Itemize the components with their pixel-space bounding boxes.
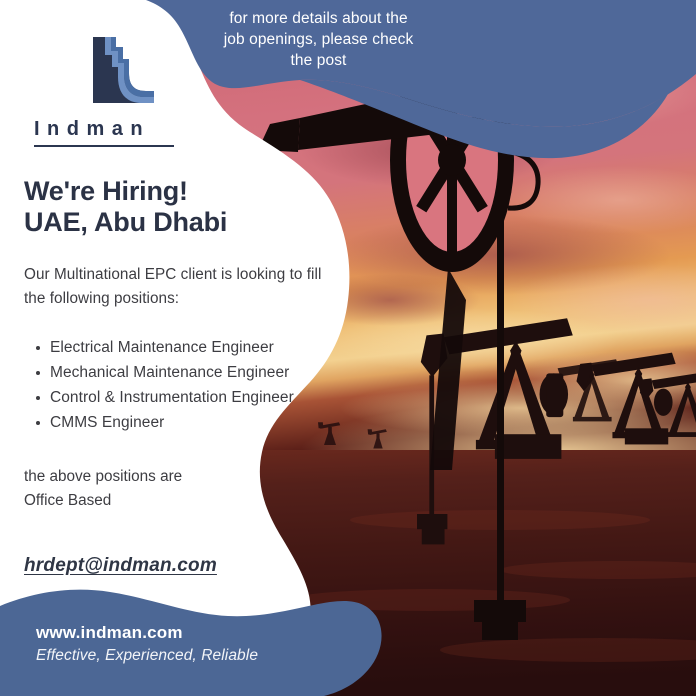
intro-text: Our Multinational EPC client is looking …	[24, 263, 344, 311]
positions-note-line-2: Office Based	[24, 489, 344, 513]
intro-line-1: Our Multinational EPC client is looking …	[24, 266, 302, 283]
list-item: Control & Instrumentation Engineer	[50, 385, 344, 410]
footer-website[interactable]: www.indman.com	[36, 622, 258, 644]
footer: www.indman.com Effective, Experienced, R…	[36, 622, 258, 666]
poster-content: We're Hiring! UAE, Abu Dhabi Our Multina…	[24, 176, 344, 577]
header-caption: for more details about the job openings,…	[196, 8, 441, 71]
brand-logo: Indman	[34, 33, 174, 147]
hiring-poster: for more details about the job openings,…	[0, 0, 696, 696]
list-item: Electrical Maintenance Engineer	[50, 335, 344, 360]
header-caption-line-2: job openings, please check	[196, 29, 441, 50]
page-title: We're Hiring! UAE, Abu Dhabi	[24, 176, 344, 238]
indman-logo-icon	[34, 33, 156, 113]
positions-list: Electrical Maintenance Engineer Mechanic…	[24, 335, 344, 435]
list-item: CMMS Engineer	[50, 410, 344, 435]
positions-note: the above positions are Office Based	[24, 465, 344, 513]
contact-email-link[interactable]: hrdept@indman.com	[24, 555, 217, 577]
footer-tagline: Effective, Experienced, Reliable	[36, 645, 258, 666]
brand-wordmark: Indman	[34, 118, 174, 147]
list-item: Mechanical Maintenance Engineer	[50, 360, 344, 385]
header-caption-line-1: for more details about the	[196, 8, 441, 29]
header-caption-line-3: the post	[196, 50, 441, 71]
headline-line-1: We're Hiring!	[24, 176, 188, 206]
headline-line-2: UAE, Abu Dhabi	[24, 207, 344, 238]
positions-note-line-1: the above positions are	[24, 465, 344, 489]
